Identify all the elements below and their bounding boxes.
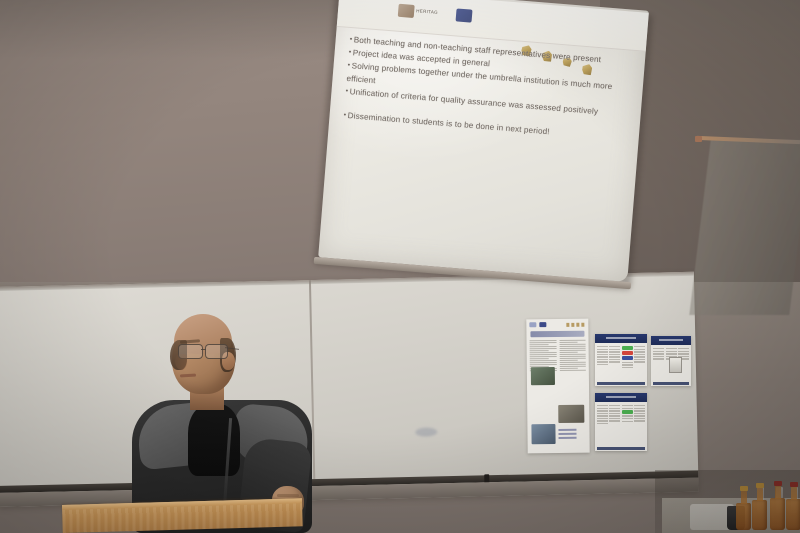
deco-shape-icon bbox=[571, 323, 574, 327]
report-page-1 bbox=[595, 334, 647, 386]
poster-logo-row bbox=[529, 322, 546, 327]
blind-rod-cap bbox=[695, 136, 702, 142]
page-diagram-icon bbox=[669, 357, 682, 373]
poster-logo-icon bbox=[529, 322, 536, 327]
poster-title-bar bbox=[530, 331, 584, 338]
page-footer bbox=[653, 382, 689, 385]
poster-photo bbox=[531, 424, 555, 444]
poster-photo bbox=[558, 405, 584, 423]
poster-column bbox=[559, 340, 586, 371]
juice-bottle bbox=[770, 498, 785, 530]
poster-legend bbox=[558, 429, 576, 439]
poster-photo bbox=[531, 367, 555, 385]
report-page-3 bbox=[595, 393, 647, 451]
poster-decoration-row bbox=[566, 323, 584, 327]
page-table bbox=[597, 345, 645, 380]
project-logo-mark bbox=[398, 3, 415, 17]
report-page-2 bbox=[651, 336, 691, 386]
eu-logo-mark bbox=[456, 8, 473, 22]
page-footer bbox=[597, 447, 645, 450]
page-header bbox=[595, 393, 647, 402]
juice-bottle bbox=[752, 500, 767, 530]
poster-logo-icon bbox=[539, 322, 546, 327]
main-project-poster bbox=[526, 319, 589, 454]
lecture-room-photo: HERITAG Both teaching and non-teaching s… bbox=[0, 0, 800, 533]
page-header bbox=[651, 336, 691, 345]
screen-surface: HERITAG Both teaching and non-teaching s… bbox=[318, 0, 649, 282]
whiteboard-smudge bbox=[415, 427, 437, 436]
wall-poster-group bbox=[527, 316, 687, 456]
presenter-shirt bbox=[188, 404, 240, 476]
juice-bottle bbox=[786, 499, 800, 530]
presenter-nose bbox=[175, 354, 187, 370]
slide-logo-eu bbox=[455, 3, 473, 26]
page-header bbox=[595, 334, 647, 343]
presenter bbox=[130, 300, 340, 533]
juice-bottle bbox=[736, 503, 751, 530]
deco-shape-icon bbox=[581, 323, 584, 327]
page-footer bbox=[597, 382, 645, 385]
page-table bbox=[597, 404, 645, 445]
project-logo-text: HERITAG bbox=[416, 9, 438, 15]
presenter-finger bbox=[277, 494, 299, 497]
projection-screen: HERITAG Both teaching and non-teaching s… bbox=[318, 0, 649, 290]
slide-logo-project: HERITAG bbox=[397, 0, 438, 24]
deco-shape-icon bbox=[566, 323, 569, 327]
deco-shape-icon bbox=[576, 323, 579, 327]
